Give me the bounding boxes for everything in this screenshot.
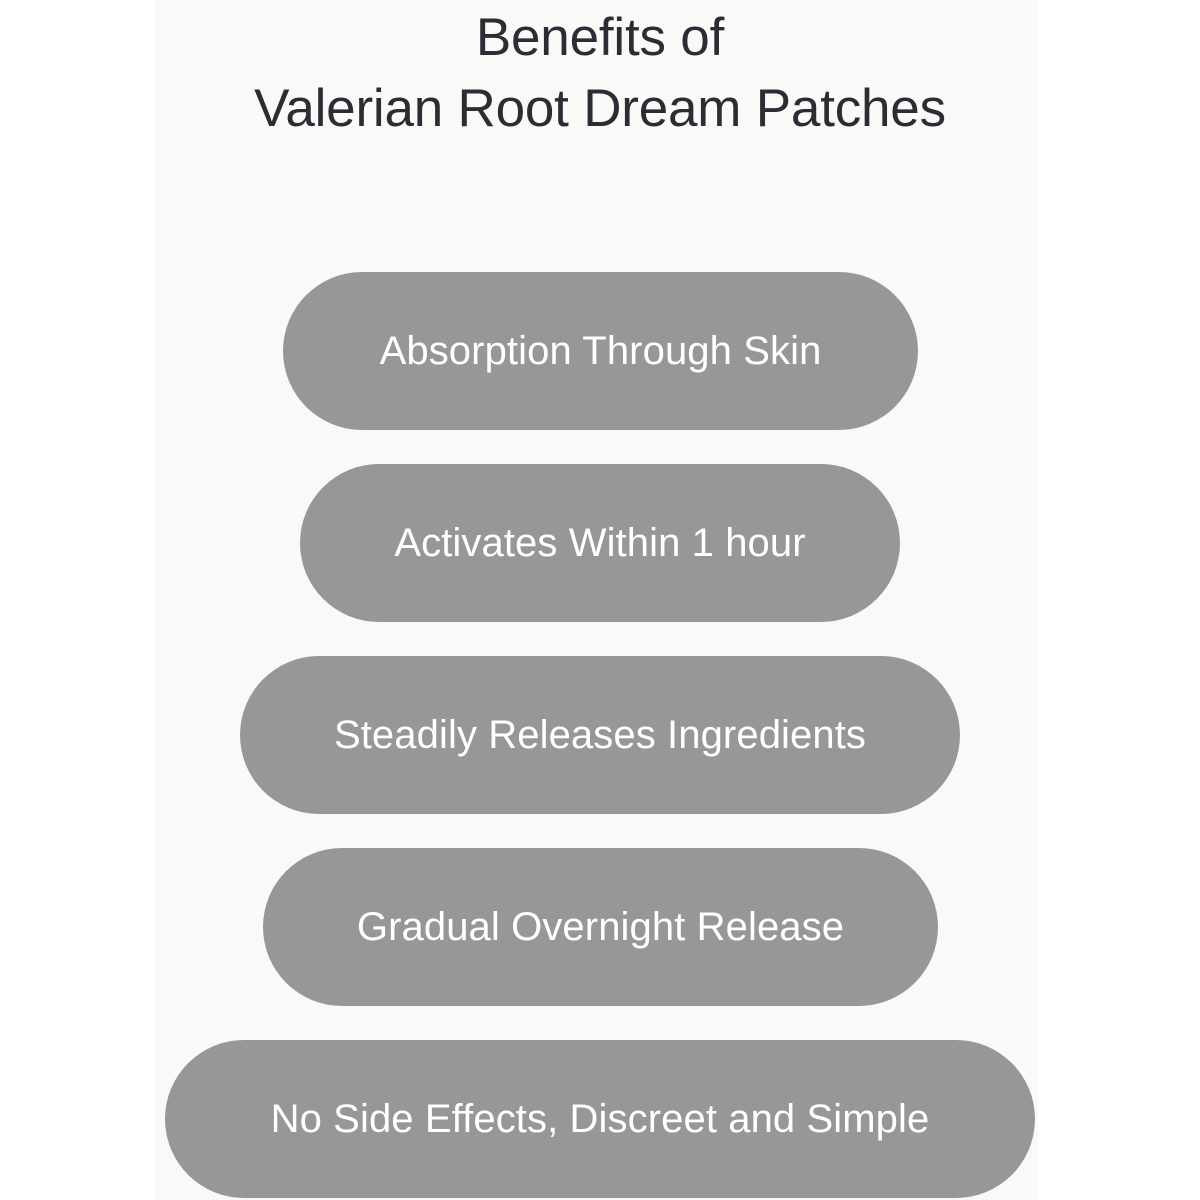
benefit-label: Activates Within 1 hour <box>394 520 805 566</box>
page-title: Benefits of Valerian Root Dream Patches <box>0 0 1200 144</box>
benefit-label: No Side Effects, Discreet and Simple <box>271 1096 930 1142</box>
benefit-pill-gradual-overnight-release: Gradual Overnight Release <box>263 848 938 1006</box>
infographic-canvas: Benefits of Valerian Root Dream Patches … <box>0 0 1200 1200</box>
benefit-pill-absorption-through-skin: Absorption Through Skin <box>283 272 918 430</box>
benefit-pill-no-side-effects-discreet-and-simple: No Side Effects, Discreet and Simple <box>165 1040 1035 1198</box>
benefit-label: Gradual Overnight Release <box>357 904 844 950</box>
benefits-list: Absorption Through Skin Activates Within… <box>0 0 1200 1200</box>
benefit-label: Steadily Releases Ingredients <box>334 712 866 758</box>
benefit-label: Absorption Through Skin <box>380 328 822 374</box>
benefit-pill-steadily-releases-ingredients: Steadily Releases Ingredients <box>240 656 960 814</box>
title-line-1: Benefits of <box>0 2 1200 73</box>
benefit-pill-activates-within-1-hour: Activates Within 1 hour <box>300 464 900 622</box>
title-line-2: Valerian Root Dream Patches <box>0 73 1200 144</box>
